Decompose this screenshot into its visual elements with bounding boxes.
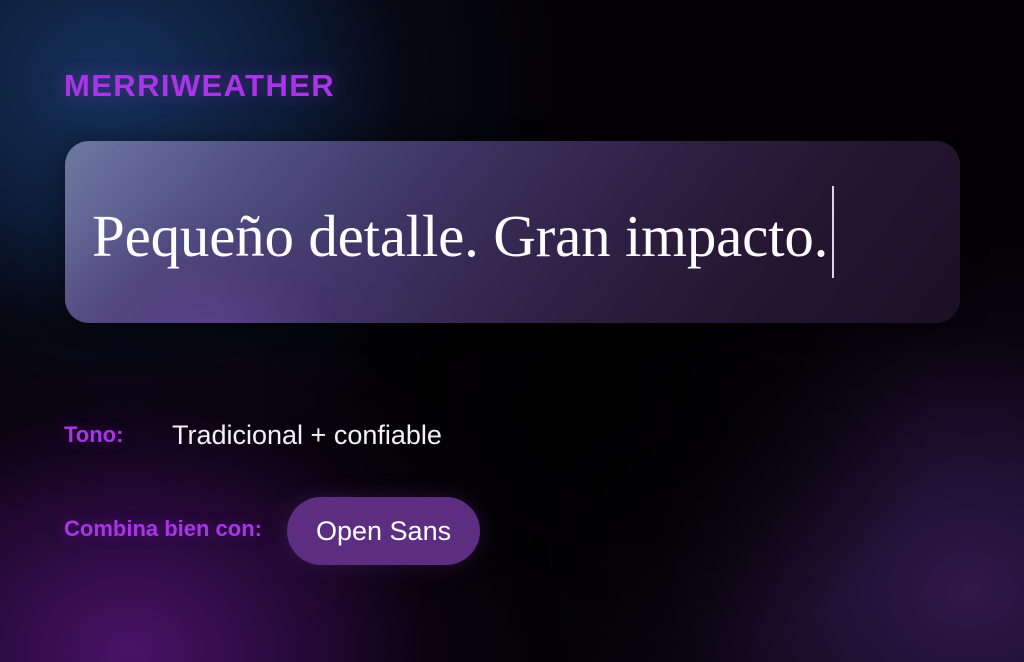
text-caret — [832, 186, 834, 278]
pairs-with-row: Combina bien con: Open Sans — [64, 512, 480, 565]
font-preview-panel[interactable]: Pequeño detalle. Gran impacto. — [65, 141, 960, 323]
tone-row: Tono: Tradicional + confiable — [64, 418, 442, 451]
tone-value: Tradicional + confiable — [172, 418, 442, 451]
font-preview-textfield[interactable]: Pequeño detalle. Gran impacto. — [92, 186, 834, 278]
pairs-with-label: Combina bien con: — [64, 512, 287, 545]
font-specimen-screen: MERRIWEATHER Pequeño detalle. Gran impac… — [0, 0, 1024, 662]
pairs-with-font-pill[interactable]: Open Sans — [287, 497, 480, 565]
font-name-title: MERRIWEATHER — [64, 68, 335, 104]
font-preview-text: Pequeño detalle. Gran impacto. — [92, 203, 828, 269]
tone-label: Tono: — [64, 418, 172, 451]
font-preview-row: Pequeño detalle. Gran impacto. — [92, 141, 940, 323]
content-layer: MERRIWEATHER Pequeño detalle. Gran impac… — [0, 0, 1024, 662]
